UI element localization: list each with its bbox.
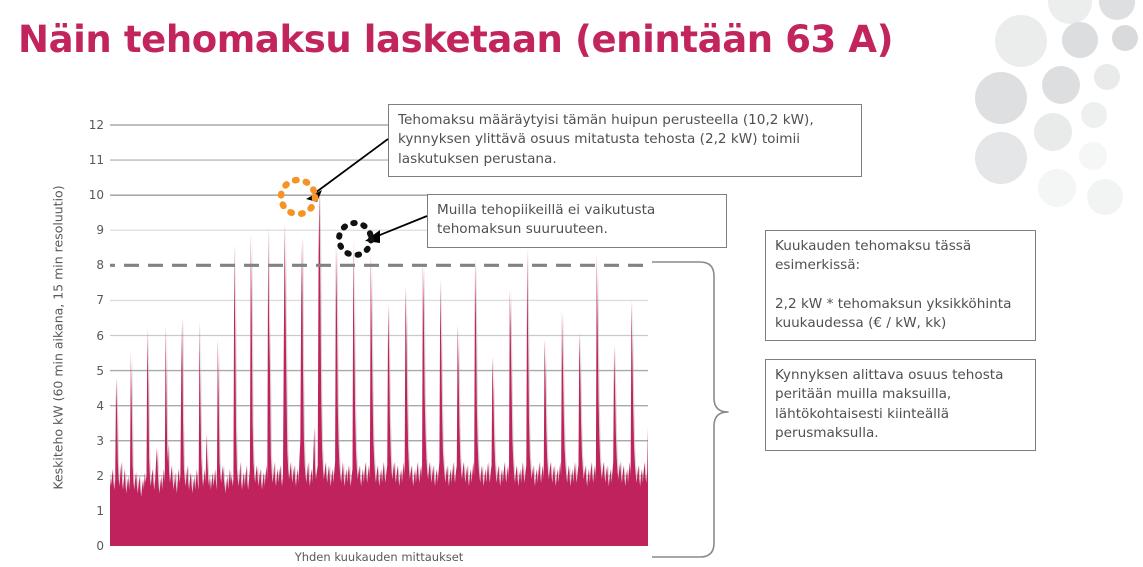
y-tick-12: 12 <box>78 118 104 132</box>
y-tick-10: 10 <box>78 188 104 202</box>
y-tick-3: 3 <box>78 434 104 448</box>
callout-monthly-fee: Kuukauden tehomaksu tässä esimerkissä: 2… <box>765 230 1036 341</box>
y-tick-4: 4 <box>78 399 104 413</box>
y-axis-ticks: 0123456789101112 <box>78 0 104 567</box>
x-axis-label: Yhden kuukauden mittaukset <box>110 550 648 564</box>
y-tick-5: 5 <box>78 364 104 378</box>
y-tick-8: 8 <box>78 258 104 272</box>
callout-other-peaks: Muilla tehopiikeillä ei vaikutusta tehom… <box>427 194 727 248</box>
y-tick-11: 11 <box>78 153 104 167</box>
y-tick-2: 2 <box>78 469 104 483</box>
y-tick-1: 1 <box>78 504 104 518</box>
y-tick-0: 0 <box>78 539 104 553</box>
y-axis-label: Keskiteho kW (60 min aikana, 15 min reso… <box>51 138 66 538</box>
y-tick-6: 6 <box>78 329 104 343</box>
callout-peak-explanation: Tehomaksu määräytyisi tämän huipun perus… <box>388 104 862 177</box>
chart-plot <box>110 112 648 546</box>
callout-base-fee: Kynnyksen alittava osuus tehosta peritää… <box>765 359 1036 451</box>
y-tick-9: 9 <box>78 223 104 237</box>
y-tick-7: 7 <box>78 293 104 307</box>
